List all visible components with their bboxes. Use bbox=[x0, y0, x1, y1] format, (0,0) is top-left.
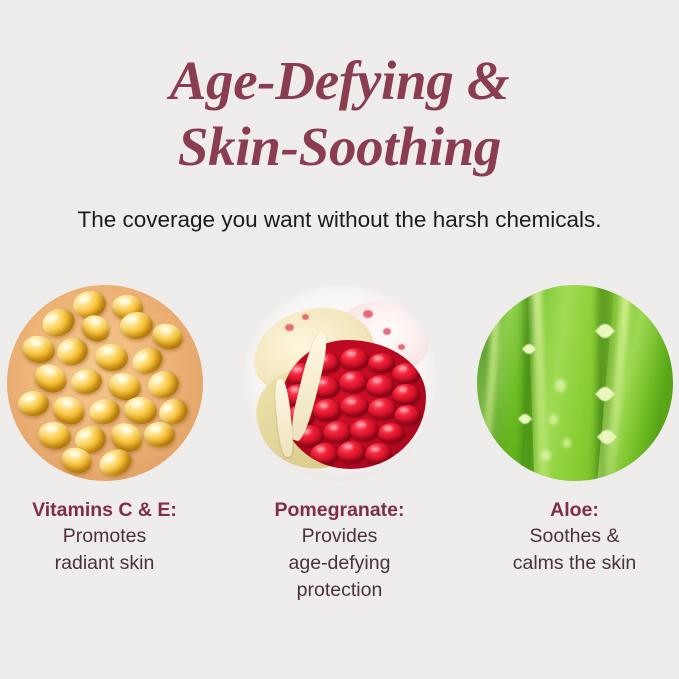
ingredient-body-line: Provides bbox=[233, 523, 447, 550]
ingredient-body: Provides age-defying protection bbox=[233, 523, 447, 604]
ingredient-item-aloe: Aloe: Soothes & calms the skin bbox=[477, 285, 673, 577]
aloe-leaves-photo bbox=[477, 285, 673, 481]
ingredient-body-line: age-defying bbox=[233, 550, 447, 577]
ingredient-body-line: radiant skin bbox=[0, 550, 212, 577]
ingredient-title: Pomegranate: bbox=[233, 497, 447, 523]
ingredient-item-pomegranate: Pomegranate: Provides age-defying protec… bbox=[242, 285, 438, 604]
pomegranate-photo bbox=[242, 285, 438, 481]
headline-line-1: Age-Defying & bbox=[0, 48, 679, 114]
ingredient-caption: Aloe: Soothes & calms the skin bbox=[468, 497, 679, 577]
headline-line-2: Skin-Soothing bbox=[0, 114, 679, 180]
ingredient-body-line: protection bbox=[233, 577, 447, 604]
ingredient-title: Vitamins C & E: bbox=[0, 497, 212, 523]
ingredient-caption: Vitamins C & E: Promotes radiant skin bbox=[0, 497, 212, 577]
ingredient-title: Aloe: bbox=[468, 497, 679, 523]
ingredient-caption: Pomegranate: Provides age-defying protec… bbox=[233, 497, 447, 604]
ingredient-body: Soothes & calms the skin bbox=[468, 523, 679, 577]
ingredient-body-line: Soothes & bbox=[468, 523, 679, 550]
page-title: Age-Defying & Skin-Soothing bbox=[0, 48, 679, 180]
ingredient-item-vitamins: Vitamins C & E: Promotes radiant skin bbox=[7, 285, 203, 577]
subtitle: The coverage you want without the harsh … bbox=[0, 206, 679, 234]
vitamin-capsules-photo bbox=[7, 285, 203, 481]
ingredient-body-line: calms the skin bbox=[468, 550, 679, 577]
ingredient-body: Promotes radiant skin bbox=[0, 523, 212, 577]
product-benefits-infographic: Age-Defying & Skin-Soothing The coverage… bbox=[0, 0, 679, 679]
ingredient-list: Vitamins C & E: Promotes radiant skin bbox=[0, 285, 679, 604]
ingredient-body-line: Promotes bbox=[0, 523, 212, 550]
